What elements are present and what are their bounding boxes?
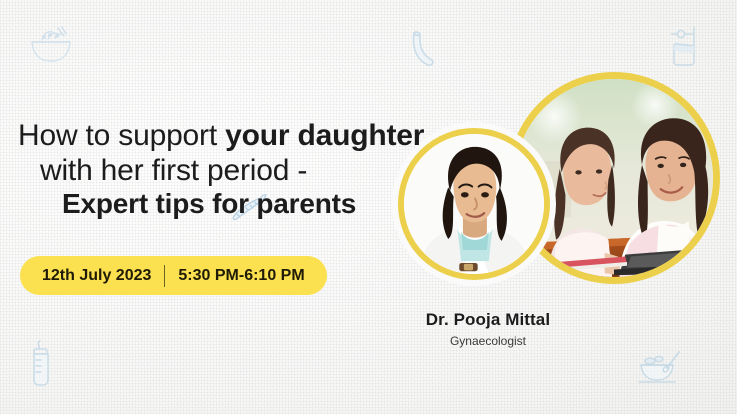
- event-date: 12th July 2023: [42, 267, 151, 285]
- baby-bottle-icon: [26, 338, 60, 388]
- speaker-block: Dr. Pooja Mittal Gynaecologist: [388, 310, 588, 348]
- webinar-banner: How to support your daughter with her fi…: [0, 0, 737, 414]
- badge-divider: [164, 265, 165, 287]
- event-time: 5:30 PM-6:10 PM: [178, 267, 304, 285]
- bowl-with-spoon-icon: [636, 348, 684, 386]
- measuring-cup-icon: [668, 22, 710, 68]
- datetime-badge: 12th July 2023 5:30 PM-6:10 PM: [20, 256, 327, 295]
- headline-line-3: Expert tips for parents: [0, 188, 420, 221]
- headline-line-1: How to support your daughter: [0, 118, 420, 153]
- doctor-portrait-photo: [404, 134, 544, 274]
- speaker-photo-group: [398, 72, 718, 304]
- headline-line-1-plain: How to support: [18, 119, 225, 152]
- banana-icon: [404, 30, 438, 70]
- headline-line-2: with her first period -: [0, 153, 420, 188]
- headline-line-1-bold: your daughter: [225, 119, 424, 152]
- headline: How to support your daughter with her fi…: [0, 118, 420, 221]
- speaker-title: Gynaecologist: [388, 334, 588, 348]
- speaker-name: Dr. Pooja Mittal: [388, 310, 588, 330]
- bowl-of-noodles-icon: [28, 22, 74, 64]
